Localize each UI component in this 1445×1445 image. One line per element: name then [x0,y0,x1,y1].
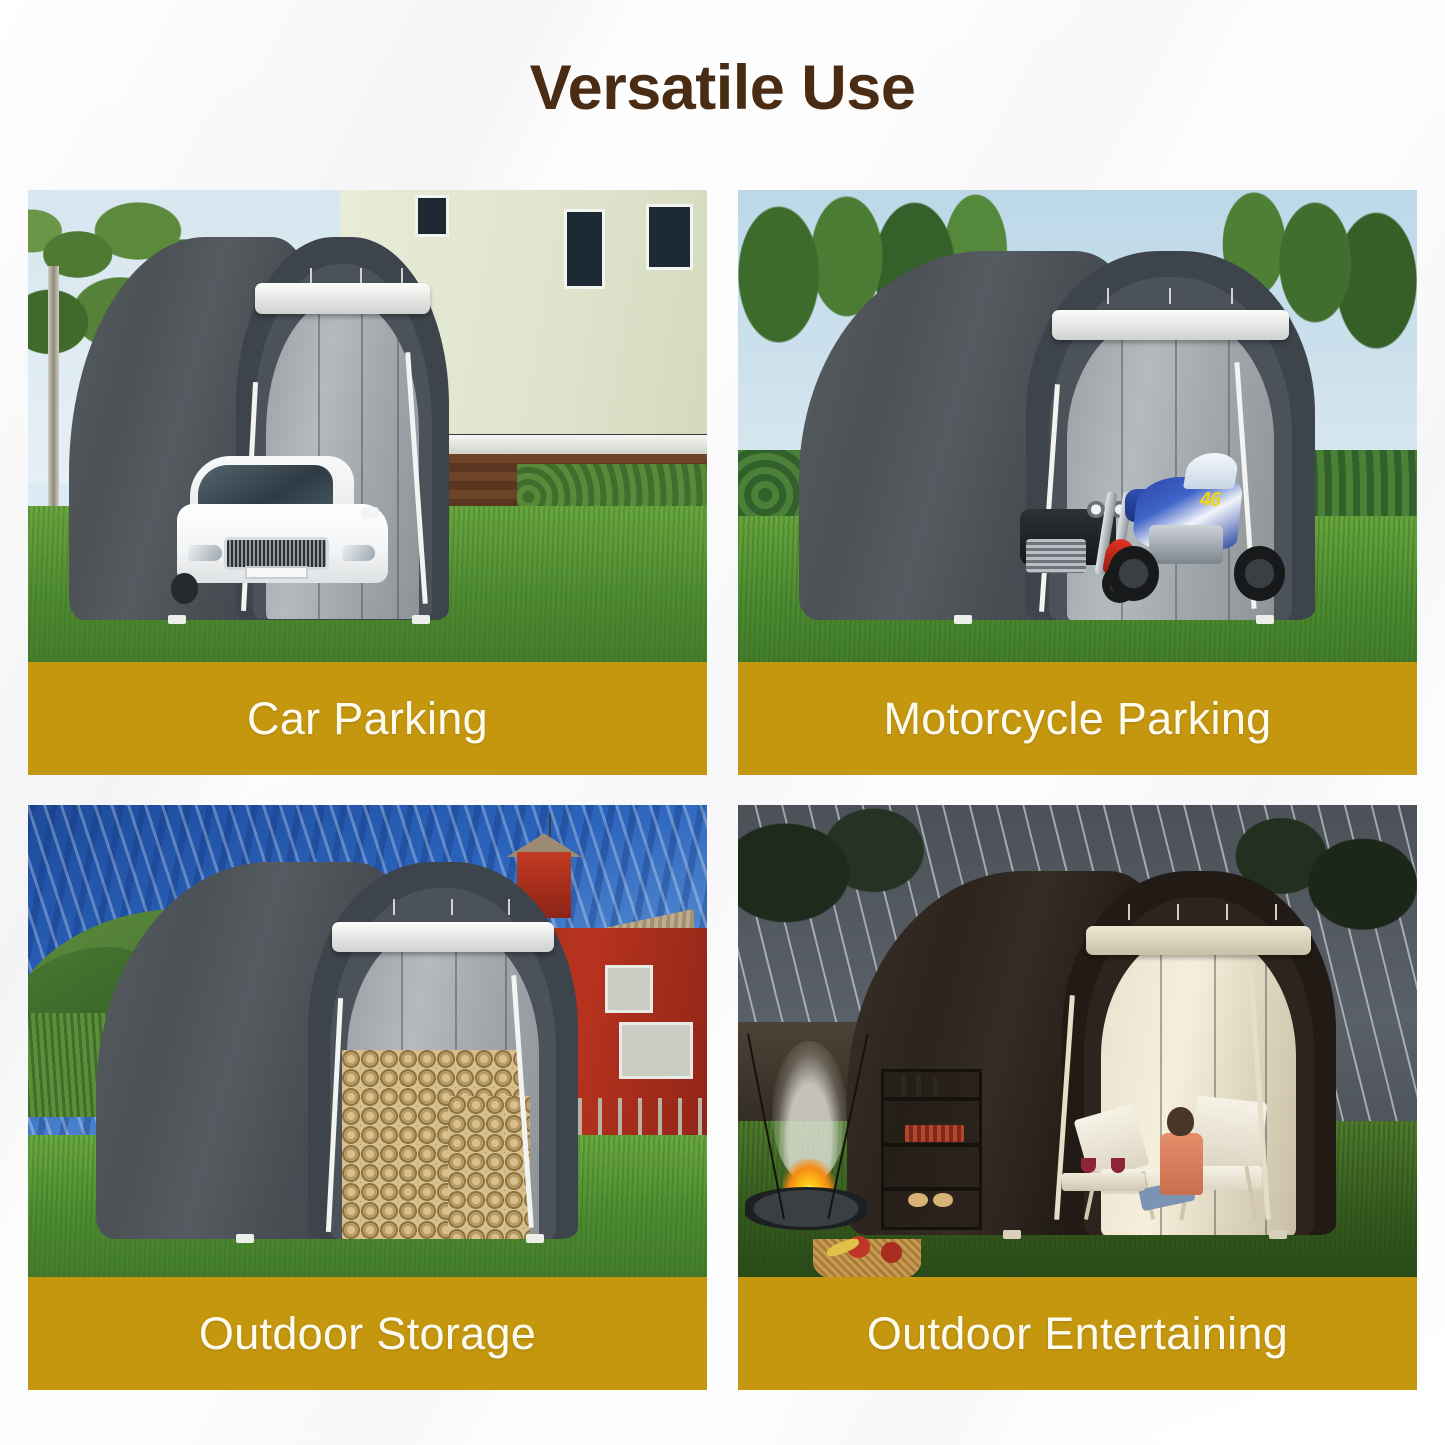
page-title: Versatile Use [0,52,1445,124]
scene-image-outdoor-storage [28,805,707,1277]
apple [881,1242,903,1263]
valance-hook [310,268,312,284]
barn-window-lower [619,1022,694,1079]
card-caption-bar: Motorcycle Parking [738,662,1417,775]
stacked-firewood-back [448,1096,530,1239]
card-caption-text: Car Parking [247,693,488,745]
headlight-right [342,545,376,562]
anchor-foot-right [526,1234,544,1243]
headlight-left [188,545,222,562]
fire-pit [745,1187,867,1229]
anchor-foot-left [1003,1230,1021,1239]
weathervane [549,814,551,838]
scene-image-car-parking [28,190,707,662]
card-caption-bar: Outdoor Entertaining [738,1277,1417,1390]
valance-hook [1275,904,1277,920]
wine-glass-2 [1111,1158,1126,1173]
card-caption-bar: Car Parking [28,662,707,775]
valance-hook [1177,904,1179,920]
tent-valance-bar [1052,310,1289,339]
person-head [1167,1107,1194,1136]
anchor-foot-left [168,615,186,624]
front-wheel [171,573,198,603]
use-case-grid: Car Parking [28,190,1417,1390]
use-case-card-outdoor-entertaining[interactable]: Outdoor Entertaining [738,805,1417,1390]
scene-image-motorcycle-parking: 46 [738,190,1417,662]
bottle [901,1075,906,1097]
sport-rear-wheel [1108,546,1159,600]
wine-glass-1 [1081,1158,1096,1173]
use-case-card-motorcycle-parking[interactable]: 46 Motorcycle Parking [738,190,1417,775]
windscreen [1183,453,1240,489]
card-caption-text: Outdoor Entertaining [867,1308,1288,1360]
valance-hook [1231,288,1233,304]
anchor-foot-left [954,615,972,624]
valance-hook [1226,904,1228,920]
valance-hook [508,899,510,915]
tent-valance-bar [1086,926,1311,955]
race-number: 46 [1200,489,1220,512]
tent-valance-bar [255,283,430,314]
cart-shelf-top [884,1097,980,1101]
valance-hook [1169,288,1171,304]
valance-hook [451,899,453,915]
cruiser-engine [1026,539,1086,572]
tent-valance-bar [332,922,554,952]
anchor-foot-right [1269,1230,1287,1239]
cart-shelf-mid [884,1143,980,1147]
anchor-foot-right [412,615,430,624]
valance-hook [1107,288,1109,304]
valance-hook [1128,904,1130,920]
bread-roll [908,1193,927,1207]
house-window-2 [646,204,694,270]
license-plate [245,566,308,580]
dome-shelter-tent [96,862,578,1240]
valance-hook [393,899,395,915]
person-torso [1160,1133,1204,1195]
use-case-card-outdoor-storage[interactable]: Outdoor Storage [28,805,707,1390]
tent-rib [397,298,399,619]
sport-motorcycle: 46 [1111,450,1281,601]
house-window-3 [415,195,449,237]
side-table [1062,1173,1145,1191]
valance-hook [360,268,362,284]
cart-shelf-low [884,1187,980,1191]
bread-roll [933,1193,952,1207]
sport-front-wheel [1234,546,1285,600]
scene-image-outdoor-entertaining [738,805,1417,1277]
card-caption-text: Outdoor Storage [199,1308,536,1360]
valance-hook [401,268,403,284]
car-side-mirror [361,507,380,519]
headlamp-left [1087,501,1105,518]
bottle [933,1077,938,1097]
grilled-meat [905,1125,964,1142]
card-caption-text: Motorcycle Parking [883,693,1271,745]
versatile-use-infographic: Versatile Use [0,0,1445,1445]
card-caption-bar: Outdoor Storage [28,1277,707,1390]
house-window-1 [564,209,605,289]
anchor-foot-right [1256,615,1274,624]
anchor-foot-left [236,1234,254,1243]
serving-cart [881,1069,983,1229]
barn-window-upper [605,965,653,1012]
bottle [916,1074,921,1097]
sport-engine [1149,525,1224,564]
use-case-card-car-parking[interactable]: Car Parking [28,190,707,775]
white-sedan [177,450,387,601]
